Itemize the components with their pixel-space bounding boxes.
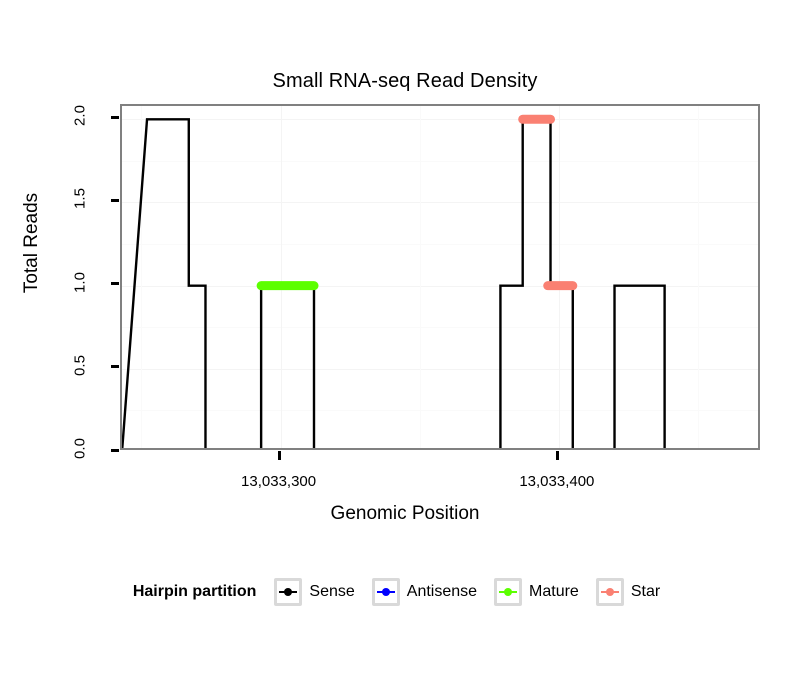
- plot-area: [122, 106, 758, 448]
- legend-item-antisense[interactable]: Antisense: [372, 578, 486, 606]
- legend-title: Hairpin partition: [133, 583, 257, 601]
- y-tick-label: 0.0: [72, 429, 89, 469]
- y-tick-mark: [111, 365, 119, 368]
- chart-figure: Small RNA-seq Read Density Total Reads 0…: [0, 0, 810, 690]
- x-tick-mark: [556, 451, 559, 460]
- y-tick-mark: [111, 199, 119, 202]
- chart-legend: Hairpin partition SenseAntisenseMatureSt…: [0, 578, 810, 606]
- y-tick-label: 1.5: [72, 179, 89, 219]
- x-axis-title: Genomic Position: [0, 503, 810, 525]
- chart-title: Small RNA-seq Read Density: [0, 70, 810, 93]
- legend-key-dot-icon: [284, 588, 292, 596]
- legend-item-mature[interactable]: Mature: [494, 578, 588, 606]
- y-tick-label: 2.0: [72, 96, 89, 136]
- legend-key-mature: [494, 578, 522, 606]
- y-tick-label: 0.5: [72, 345, 89, 385]
- x-tick-label: 13,033,300: [209, 473, 349, 490]
- legend-label: Antisense: [407, 583, 477, 601]
- x-tick-mark: [278, 451, 281, 460]
- legend-key-dot-icon: [606, 588, 614, 596]
- legend-label: Mature: [529, 583, 579, 601]
- y-axis-title: Total Reads: [21, 113, 43, 373]
- y-tick-mark: [111, 116, 119, 119]
- y-tick-mark: [111, 282, 119, 285]
- legend-key-dot-icon: [504, 588, 512, 596]
- legend-key-antisense: [372, 578, 400, 606]
- legend-label: Star: [631, 583, 660, 601]
- legend-key-star: [596, 578, 624, 606]
- legend-item-sense[interactable]: Sense: [274, 578, 363, 606]
- legend-key-dot-icon: [382, 588, 390, 596]
- y-tick-mark: [111, 449, 119, 452]
- legend-label: Sense: [309, 583, 354, 601]
- series-line-sense: [122, 119, 760, 450]
- series-layer: [122, 106, 760, 450]
- x-tick-label: 13,033,400: [487, 473, 627, 490]
- legend-item-star[interactable]: Star: [596, 578, 669, 606]
- y-tick-label: 1.0: [72, 262, 89, 302]
- legend-items: SenseAntisenseMatureStar: [274, 578, 677, 606]
- legend-key-sense: [274, 578, 302, 606]
- plot-panel: [120, 104, 760, 450]
